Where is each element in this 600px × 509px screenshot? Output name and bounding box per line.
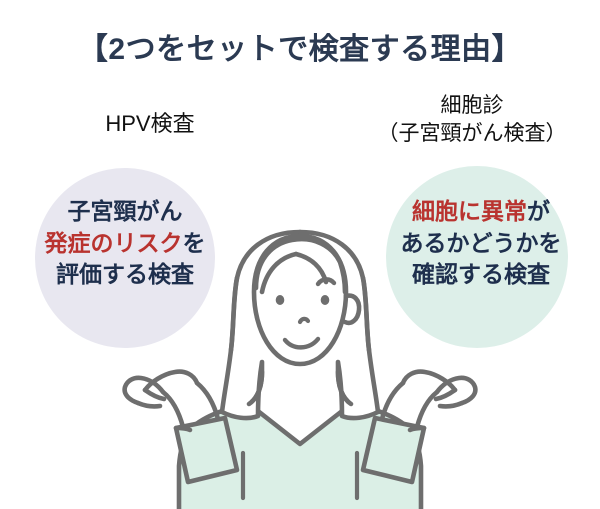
infographic-canvas: 【2つをセットで検査する理由】 HPV検査 細胞診 （子宮頸がん検査）: [0, 0, 600, 509]
right-bubble-line1: 細胞に異常が: [362, 196, 600, 228]
right-bubble-line1-rest: が: [527, 198, 550, 224]
left-bubble-line3: 評価する検査: [0, 259, 250, 291]
right-bubble-line2: あるかどうかを: [362, 228, 600, 260]
left-bubble-highlight: 発症のリスク: [45, 230, 183, 256]
left-bubble-line2: 発症のリスクを: [0, 228, 250, 260]
right-bubble-line3: 確認する検査: [362, 259, 600, 291]
left-bubble-text: 子宮頸がん 発症のリスクを 評価する検査: [0, 196, 250, 291]
left-bubble-line1: 子宮頸がん: [0, 196, 250, 228]
left-bubble-line2-rest: を: [183, 230, 206, 256]
right-bubble-text: 細胞に異常が あるかどうかを 確認する検査: [362, 196, 600, 291]
right-bubble-highlight: 細胞に異常: [412, 198, 527, 224]
